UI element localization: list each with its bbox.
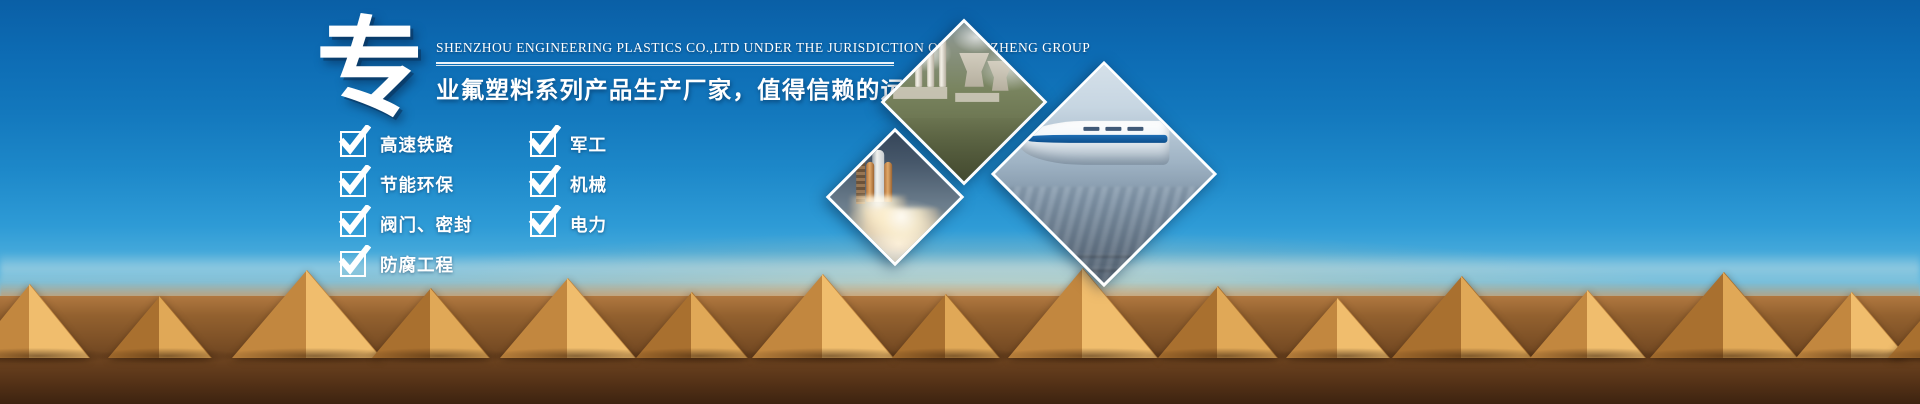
feature-item[interactable]: 电力	[530, 204, 720, 244]
feature-item-label: 机械	[570, 172, 607, 197]
check-box-icon	[530, 171, 556, 197]
feature-item-label: 电力	[570, 212, 607, 237]
feature-item-label: 防腐工程	[380, 252, 454, 277]
photo-diamond-group	[820, 26, 1240, 306]
pyramid-shadow	[96, 348, 240, 364]
pyramid-lit-face	[29, 281, 89, 358]
check-box-icon	[530, 211, 556, 237]
promo-banner: 专 SHENZHOU ENGINEERING PLASTICS CO.,LTD …	[0, 0, 1920, 404]
logo-character: 专	[316, 16, 424, 124]
feature-item-label: 军工	[570, 132, 607, 157]
feature-item[interactable]: 防腐工程	[340, 244, 530, 284]
pyramid-lit-face	[1723, 269, 1797, 358]
feature-item-label: 阀门、密封	[380, 212, 473, 237]
check-box-icon	[340, 131, 366, 157]
feature-item-empty	[530, 244, 720, 284]
feature-item[interactable]: 机械	[530, 164, 720, 204]
feature-checklist: 高速铁路军工节能环保机械阀门、密封电力防腐工程	[340, 124, 720, 284]
pyramid-lit-face	[1461, 273, 1531, 358]
feature-item[interactable]: 军工	[530, 124, 720, 164]
check-box-icon	[340, 251, 366, 277]
pyramid-lit-face	[567, 275, 635, 358]
feature-item[interactable]: 节能环保	[340, 164, 530, 204]
pyramid	[1888, 281, 1920, 358]
check-box-icon	[530, 131, 556, 157]
feature-item[interactable]: 高速铁路	[340, 124, 530, 164]
feature-item[interactable]: 阀门、密封	[340, 204, 530, 244]
feature-item-label: 高速铁路	[380, 132, 454, 157]
feature-item-label: 节能环保	[380, 172, 454, 197]
check-box-icon	[340, 171, 366, 197]
pyramid-shadow	[1876, 348, 1920, 364]
check-box-icon	[340, 211, 366, 237]
